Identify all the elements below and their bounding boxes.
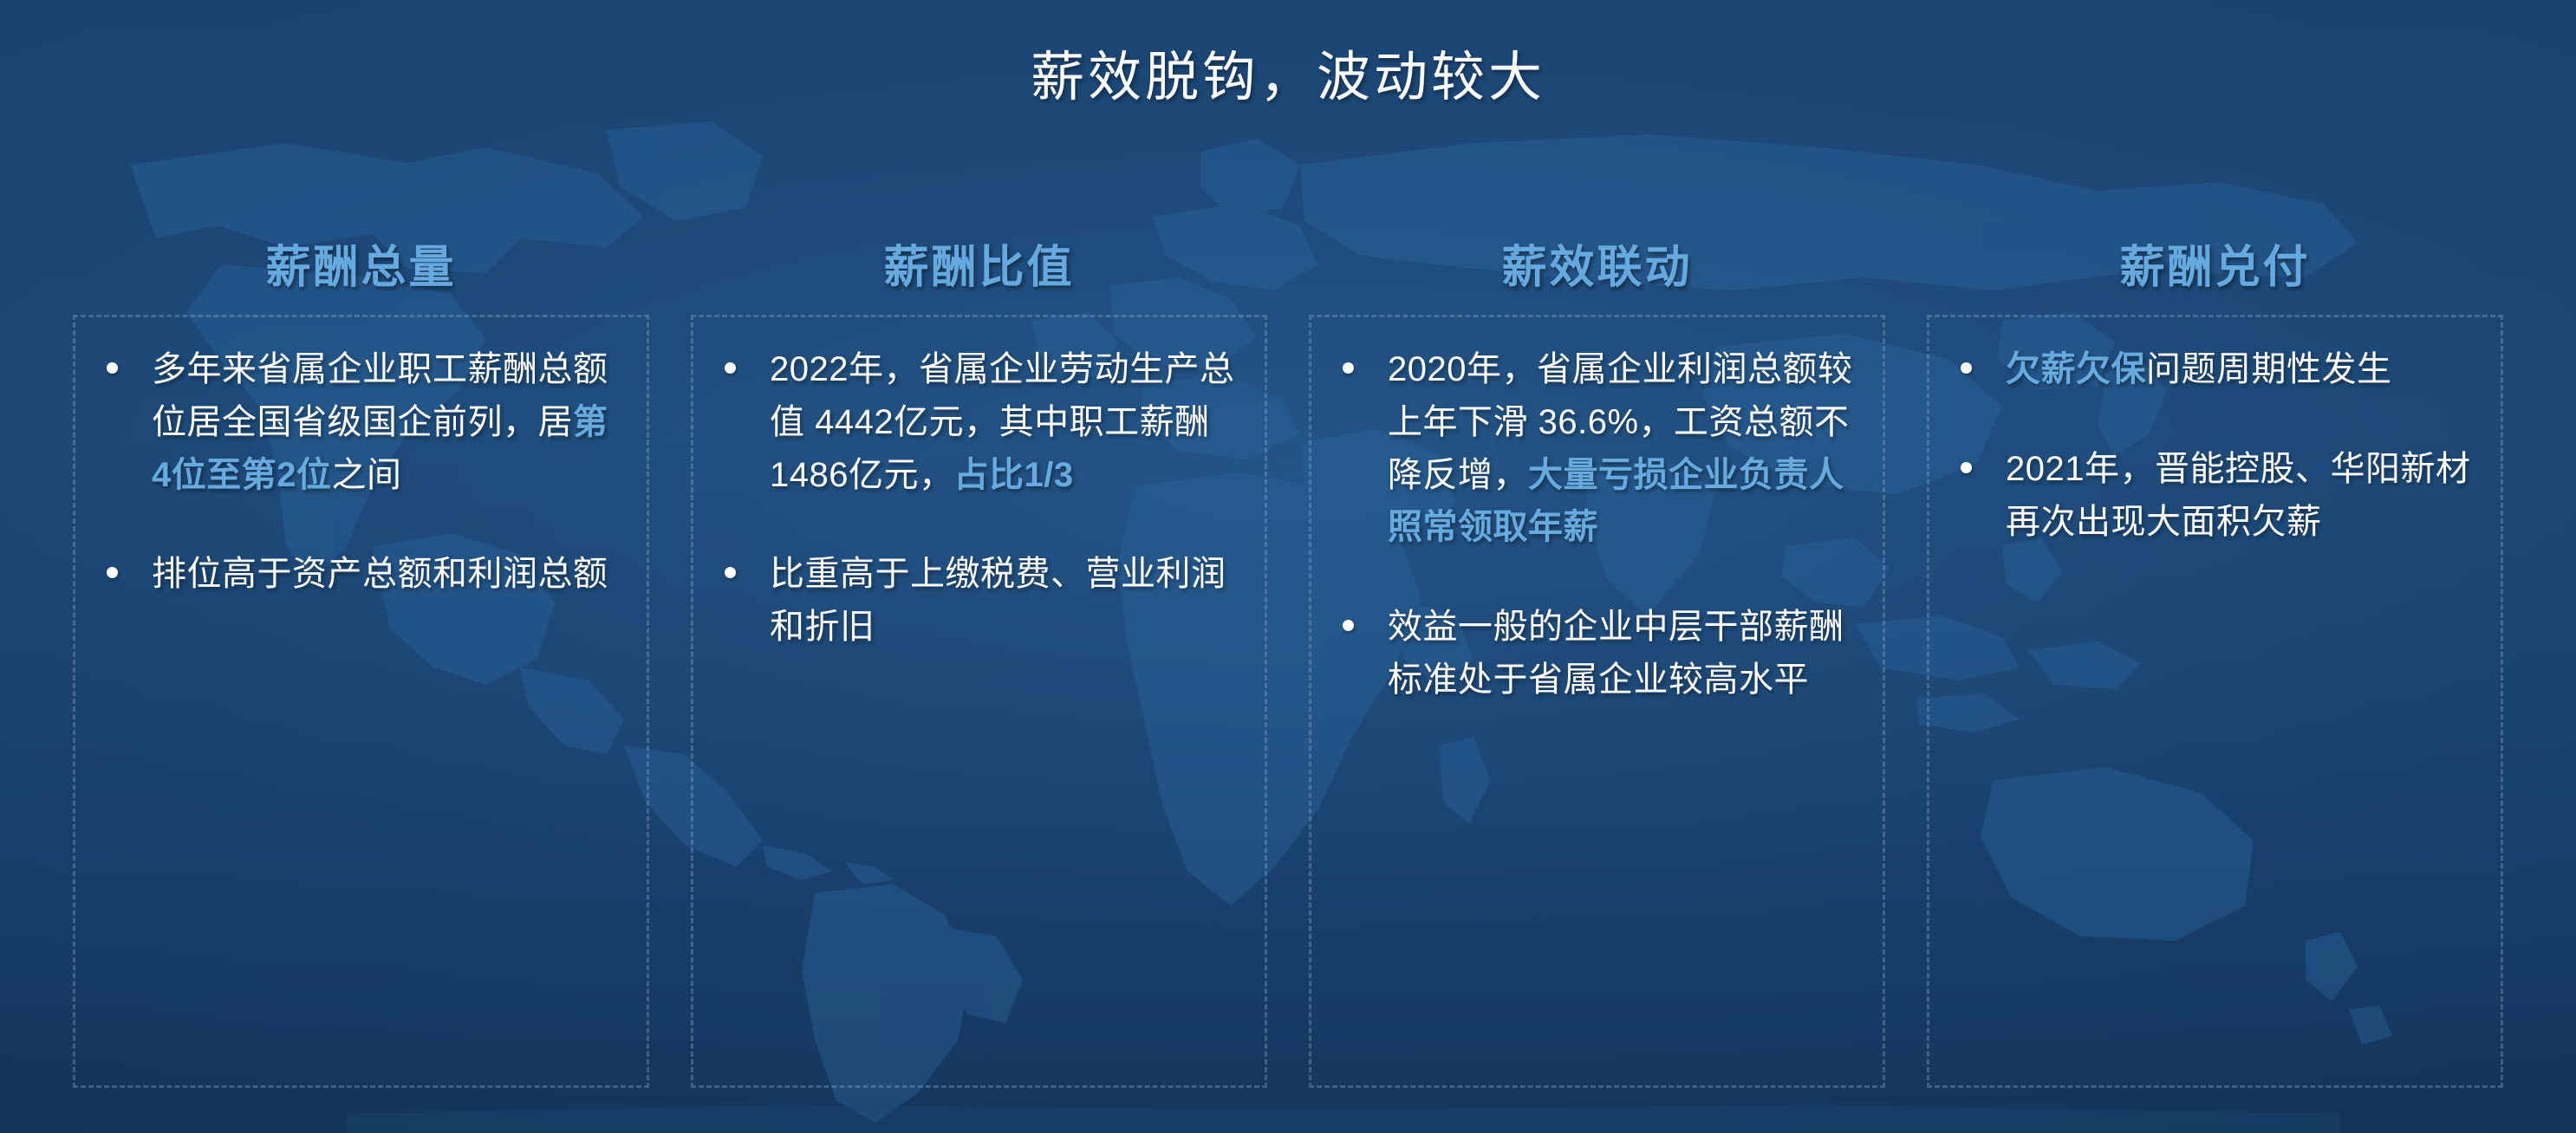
bullet-text: 效益一般的企业中层干部薪酬标准处于省属企业较高水平	[1388, 608, 1844, 699]
list-item: 欠薪欠保问题周期性发生	[1943, 343, 2475, 396]
column-3-bullet-list: 2020年，省属企业利润总额较上年下滑 36.6%，工资总额不降反增，大量亏损企…	[1325, 343, 1857, 706]
bullet-dot-icon	[1343, 620, 1354, 631]
bullet-dot-icon	[725, 567, 736, 578]
bullet-text: 比重高于上缴税费、营业利润和折旧	[770, 555, 1226, 646]
column-1-box: 多年来省属企业职工薪酬总额位居全国省级国企前列，居第4位至第2位之间 排位高于资…	[73, 315, 649, 1088]
page-title: 薪效脱钩，波动较大	[0, 33, 2576, 111]
list-item: 比重高于上缴税费、营业利润和折旧	[707, 548, 1239, 654]
column-2-box: 2022年，省属企业劳动生产总值 4442亿元，其中职工薪酬1486亿元，占比1…	[691, 315, 1267, 1088]
column-1: 薪酬总量 多年来省属企业职工薪酬总额位居全国省级国企前列，居第4位至第2位之间 …	[52, 221, 670, 1088]
bullet-dot-icon	[1961, 462, 1972, 473]
bullet-highlight: 占比1/3	[953, 456, 1073, 494]
column-3-heading: 薪效联动	[1309, 221, 1885, 315]
list-item: 排位高于资产总额和利润总额	[89, 548, 621, 601]
list-item: 2021年，晋能控股、华阳新材再次出现大面积欠薪	[1943, 443, 2475, 549]
column-1-heading: 薪酬总量	[73, 221, 649, 315]
column-2-bullet-list: 2022年，省属企业劳动生产总值 4442亿元，其中职工薪酬1486亿元，占比1…	[707, 343, 1239, 654]
column-4-bullet-list: 欠薪欠保问题周期性发生 2021年，晋能控股、华阳新材再次出现大面积欠薪	[1943, 343, 2475, 548]
column-4: 薪酬兑付 欠薪欠保问题周期性发生 2021年，晋能控股、华阳新材再次出现大面积欠…	[1906, 221, 2524, 1088]
bullet-dot-icon	[1343, 362, 1354, 374]
slide-root: 薪效脱钩，波动较大 薪酬总量 多年来省属企业职工薪酬总额位居全国省级国企前列，居…	[0, 0, 2576, 1133]
bullet-text: 2021年，晋能控股、华阳新材再次出现大面积欠薪	[2006, 450, 2470, 541]
column-1-bullet-list: 多年来省属企业职工薪酬总额位居全国省级国企前列，居第4位至第2位之间 排位高于资…	[89, 343, 621, 601]
list-item: 2022年，省属企业劳动生产总值 4442亿元，其中职工薪酬1486亿元，占比1…	[707, 343, 1239, 501]
column-3: 薪效联动 2020年，省属企业利润总额较上年下滑 36.6%，工资总额不降反增，…	[1288, 221, 1906, 1088]
column-2: 薪酬比值 2022年，省属企业劳动生产总值 4442亿元，其中职工薪酬1486亿…	[670, 221, 1288, 1088]
bullet-dot-icon	[107, 362, 118, 374]
columns-container: 薪酬总量 多年来省属企业职工薪酬总额位居全国省级国企前列，居第4位至第2位之间 …	[52, 221, 2524, 1088]
bullet-text: 之间	[332, 456, 402, 494]
column-4-box: 欠薪欠保问题周期性发生 2021年，晋能控股、华阳新材再次出现大面积欠薪	[1927, 315, 2503, 1088]
bullet-dot-icon	[725, 362, 736, 374]
list-item: 2020年，省属企业利润总额较上年下滑 36.6%，工资总额不降反增，大量亏损企…	[1325, 343, 1857, 554]
bullet-text: 多年来省属企业职工薪酬总额位居全国省级国企前列，居	[152, 350, 608, 441]
bullet-text: 问题周期性发生	[2146, 350, 2392, 388]
bullet-dot-icon	[107, 567, 118, 578]
bullet-highlight: 欠薪欠保	[2006, 350, 2146, 388]
list-item: 多年来省属企业职工薪酬总额位居全国省级国企前列，居第4位至第2位之间	[89, 343, 621, 501]
bullet-text: 排位高于资产总额和利润总额	[152, 555, 608, 593]
list-item: 效益一般的企业中层干部薪酬标准处于省属企业较高水平	[1325, 601, 1857, 706]
bullet-dot-icon	[1961, 362, 1972, 374]
column-3-box: 2020年，省属企业利润总额较上年下滑 36.6%，工资总额不降反增，大量亏损企…	[1309, 315, 1885, 1088]
column-2-heading: 薪酬比值	[691, 221, 1267, 315]
column-4-heading: 薪酬兑付	[1927, 221, 2503, 315]
